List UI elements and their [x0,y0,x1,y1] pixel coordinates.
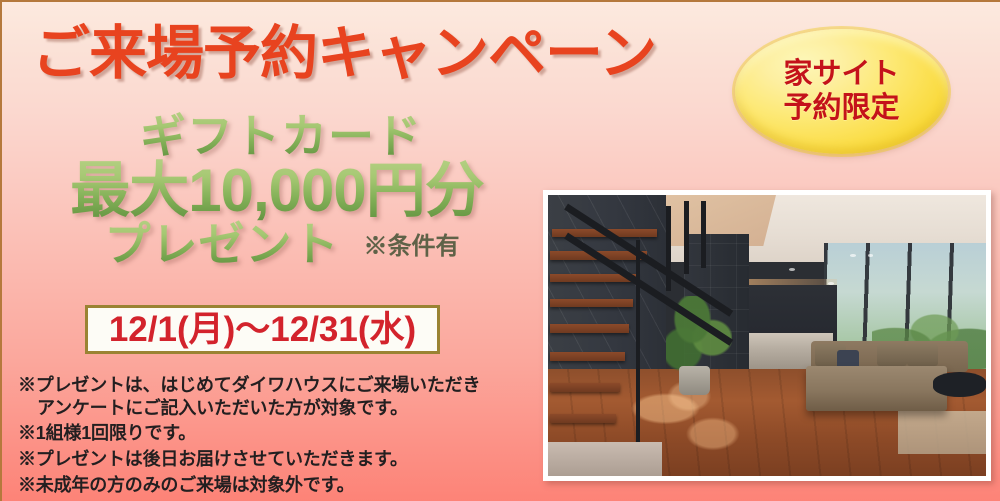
campaign-period-text: 12/1(月)〜12/31(水) [109,312,416,347]
fine-print-item: ※1組様1回限りです。 [18,421,538,447]
photo-downlight [868,254,874,257]
gift-present-row: プレゼント ※条件有 [22,220,532,270]
campaign-period-badge: 12/1(月)〜12/31(水) [85,305,440,354]
photo-downlight [850,254,856,257]
badge-line-1: 家サイト [783,59,899,90]
page-title: ご来場予約キャンペーン [32,25,656,83]
photo-stair-tread [550,414,616,422]
photo-area-rug [898,411,986,453]
gift-offer-block: ギフトカード 最大10,000円分 プレゼント ※条件有 [22,112,532,269]
photo-rail-post [684,201,689,274]
photo-entry-step [548,442,662,476]
photo-coffee-table [933,372,986,397]
photo-stair-tread [550,299,633,307]
condition-note: ※条件有 [364,226,460,261]
badge-line-2: 予約限定 [783,93,899,124]
photo-downlight [828,282,834,285]
photo-cushion [907,344,938,366]
gift-card-label: ギフトカード [22,112,532,161]
fine-print-item: ※未成年の方のみのご来場は対象外です。 [18,473,538,499]
fine-print-item: ※プレゼントは、はじめてダイワハウスにご来場いただき [18,373,538,399]
photo-rail-post [666,206,671,290]
interior-photo [548,195,986,476]
photo-rail-post [636,240,641,442]
campaign-banner: ご来場予約キャンペーン 家サイト 予約限定 ギフトカード 最大10,000円分 … [0,0,1000,501]
interior-photo-frame [543,190,991,481]
photo-rail-post [701,201,706,268]
status-badge: 家サイト 予約限定 [735,29,948,154]
photo-plant-pot [679,366,710,394]
photo-downlight [789,268,795,271]
photo-sofa-seat [806,366,946,411]
gift-present-label: プレゼント [105,220,340,270]
fine-print-item: ※プレゼントは後日お届けさせていただきます。 [18,447,538,473]
fine-print-item: アンケートにご記入いただいた方が対象です。 [18,396,538,422]
photo-stair-tread [550,383,620,391]
fine-print-list: ※プレゼントは、はじめてダイワハウスにご来場いただき アンケートにご記入いただい… [18,373,538,499]
photo-stair-tread [550,352,624,360]
photo-stair-tread [550,324,629,332]
gift-amount-label: 最大10,000円分 [22,159,532,224]
photo-cushion [877,344,908,366]
